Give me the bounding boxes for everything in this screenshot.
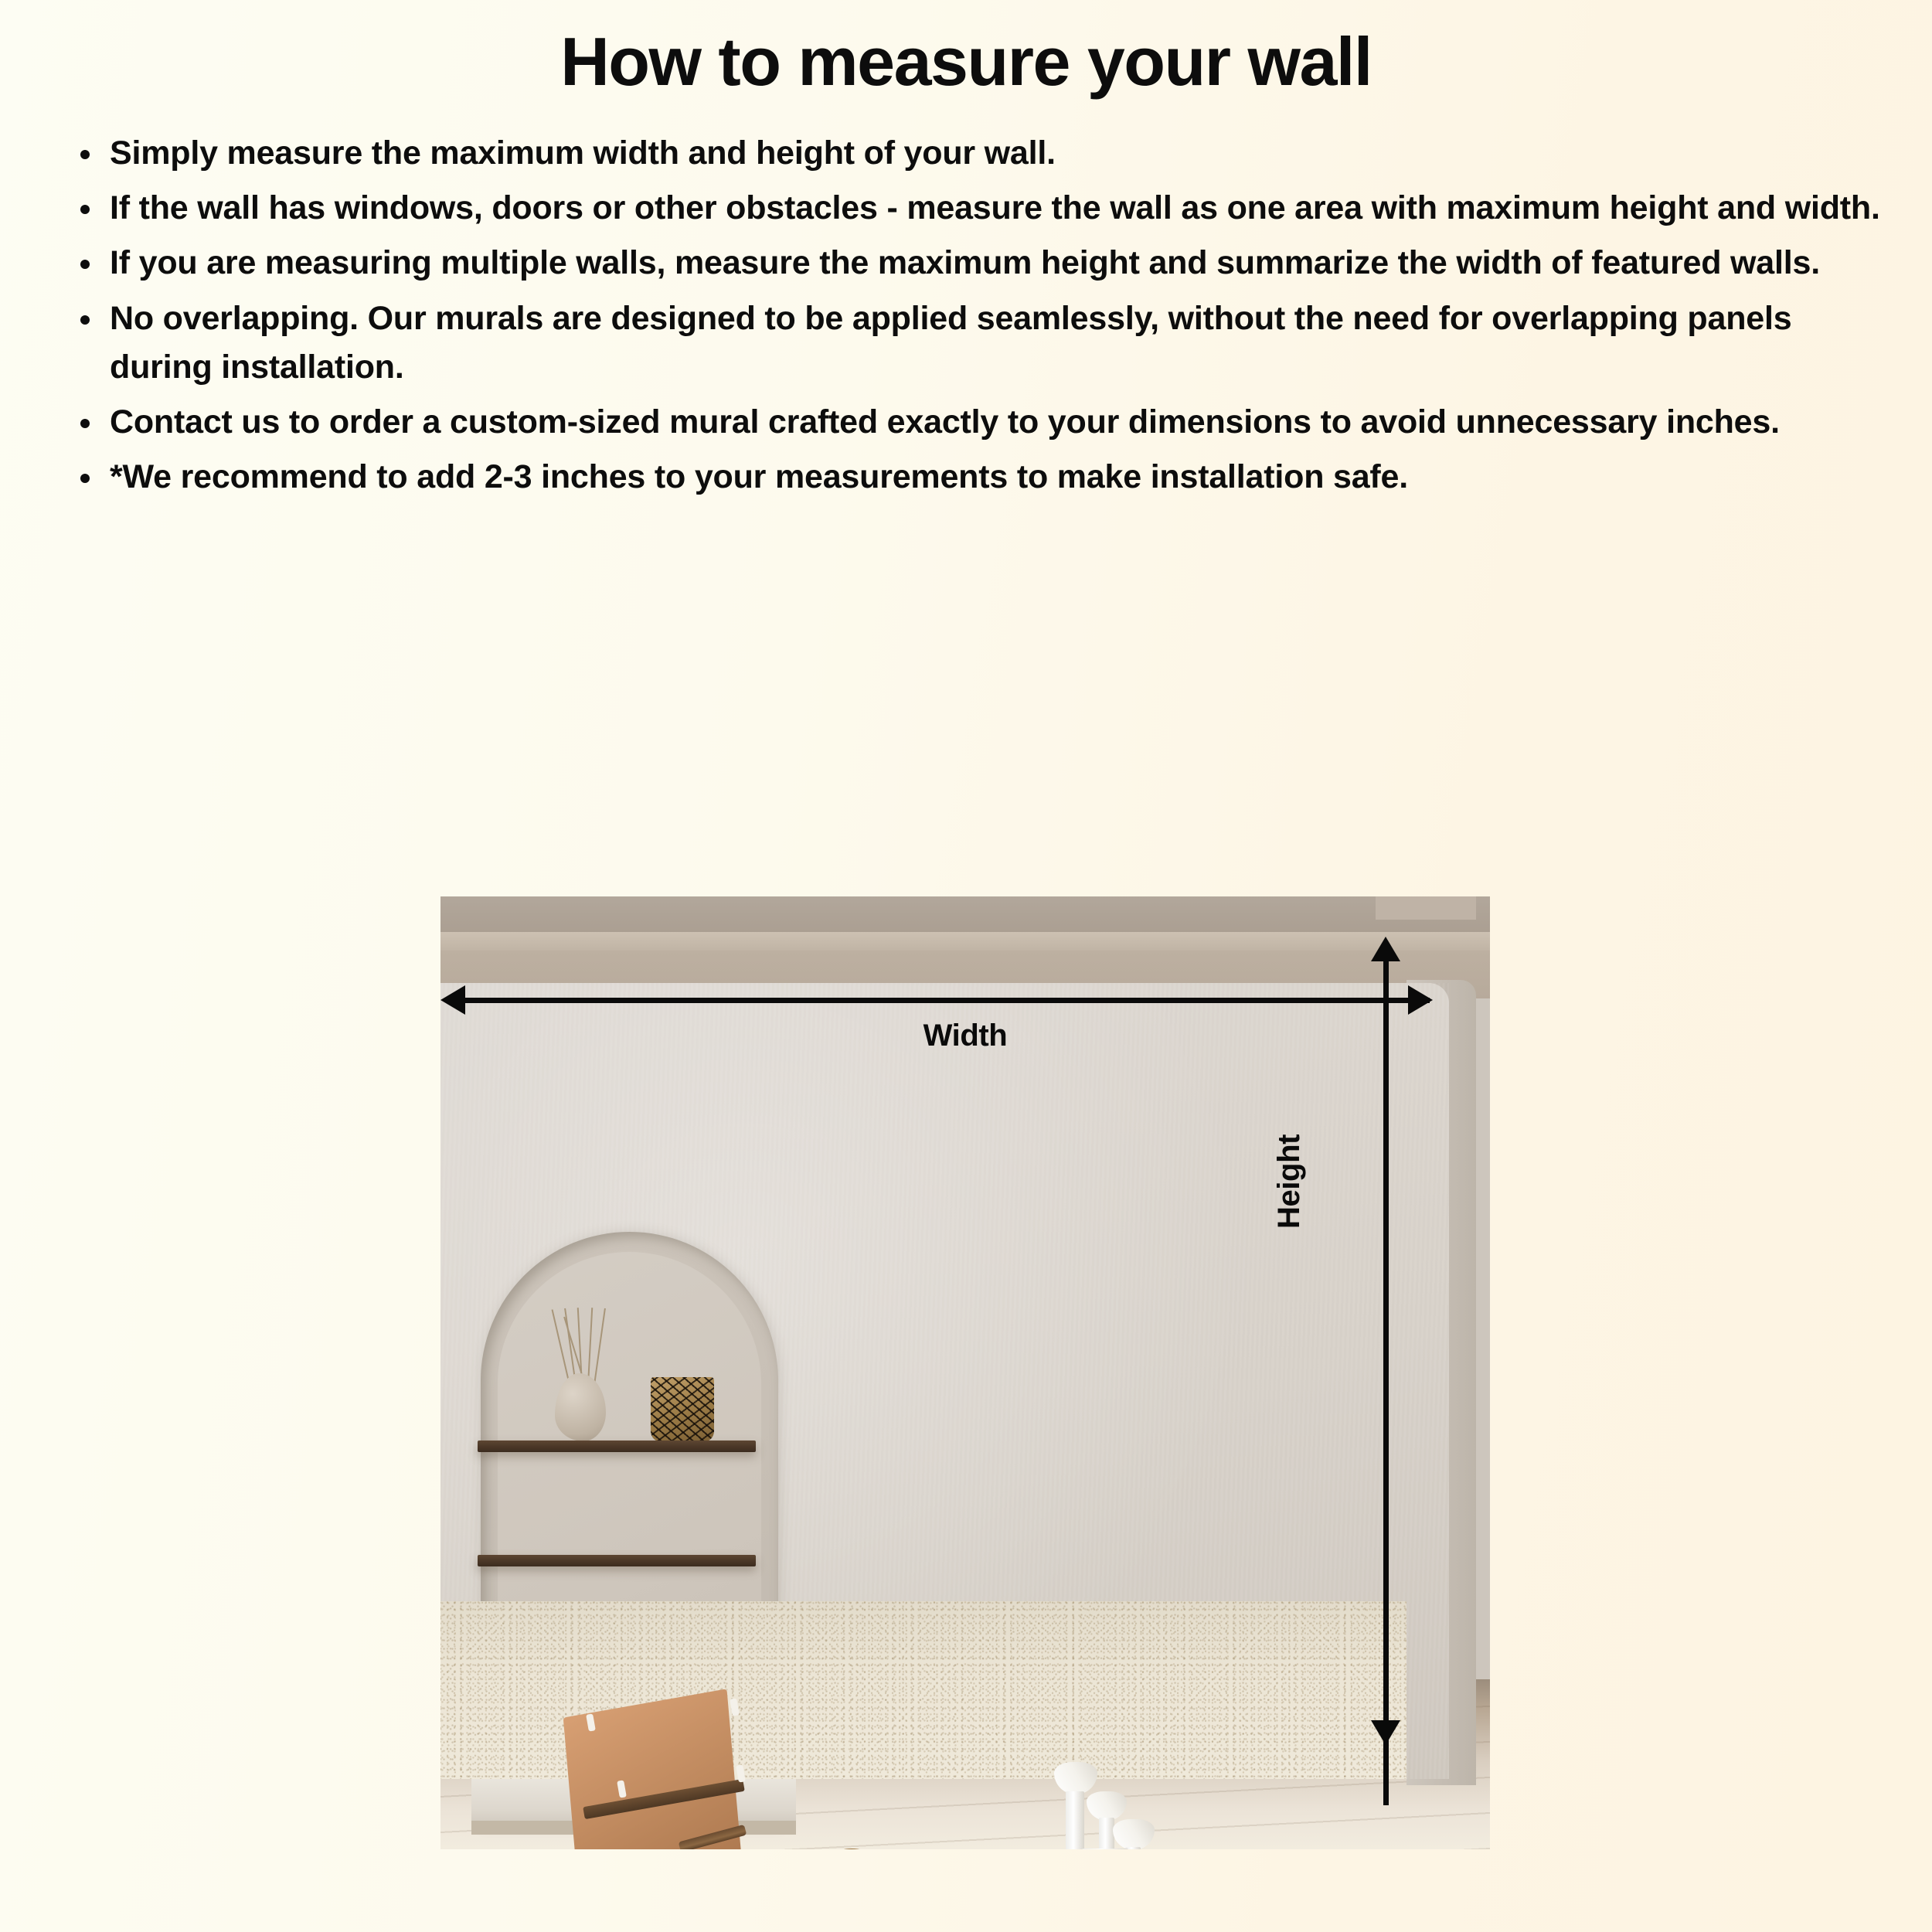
- sculpture-stem-mid: [1099, 1818, 1114, 1849]
- list-item: If the wall has windows, doors or other …: [74, 184, 1886, 233]
- measurement-diagram-image: Width Height: [440, 896, 1490, 1849]
- wooden-shelf-middle: [478, 1555, 756, 1566]
- page-title: How to measure your wall: [0, 0, 1932, 112]
- chair-backrest: [563, 1689, 744, 1849]
- sculpture-crossbar: [1082, 1849, 1128, 1849]
- list-item: If you are measuring multiple walls, mea…: [74, 239, 1886, 287]
- woven-basket: [651, 1377, 714, 1442]
- width-dimension-line: [460, 998, 1430, 1003]
- list-item: Contact us to order a custom-sized mural…: [74, 398, 1886, 447]
- width-arrow-right-head: [1408, 985, 1433, 1015]
- sculpture-cup-mid: [1087, 1791, 1127, 1821]
- ceiling-notch: [1376, 896, 1476, 920]
- round-side-table: [1022, 1756, 1199, 1849]
- mural-wall-panel: [440, 983, 1449, 1779]
- list-item: *We recommend to add 2-3 inches to your …: [74, 453, 1886, 502]
- sculpture-stem-tall: [1066, 1791, 1084, 1849]
- width-label: Width: [440, 1019, 1490, 1053]
- sculpture-cup-short: [1113, 1819, 1155, 1849]
- list-item: Simply measure the maximum width and hei…: [74, 129, 1886, 178]
- ceiling-band: [440, 896, 1490, 932]
- height-dimension-line: [1383, 958, 1389, 1805]
- height-arrow-up-head: [1371, 937, 1400, 961]
- chair-strap: [730, 1698, 740, 1716]
- instructions-list: Simply measure the maximum width and hei…: [0, 112, 1932, 502]
- chair-arm-knob-rear: [836, 1849, 867, 1849]
- width-arrow-left-head: [440, 985, 465, 1015]
- height-arrow-down-head: [1371, 1720, 1400, 1745]
- sculpture-cup-tall: [1054, 1762, 1097, 1794]
- list-item: No overlapping. Our murals are designed …: [74, 294, 1886, 392]
- ceiling-lip: [440, 932, 1490, 951]
- leather-sling-chair: [541, 1694, 1005, 1849]
- wooden-shelf-top: [478, 1440, 756, 1452]
- room-photo: Width Height: [440, 896, 1490, 1849]
- height-label: Height: [1272, 1134, 1307, 1229]
